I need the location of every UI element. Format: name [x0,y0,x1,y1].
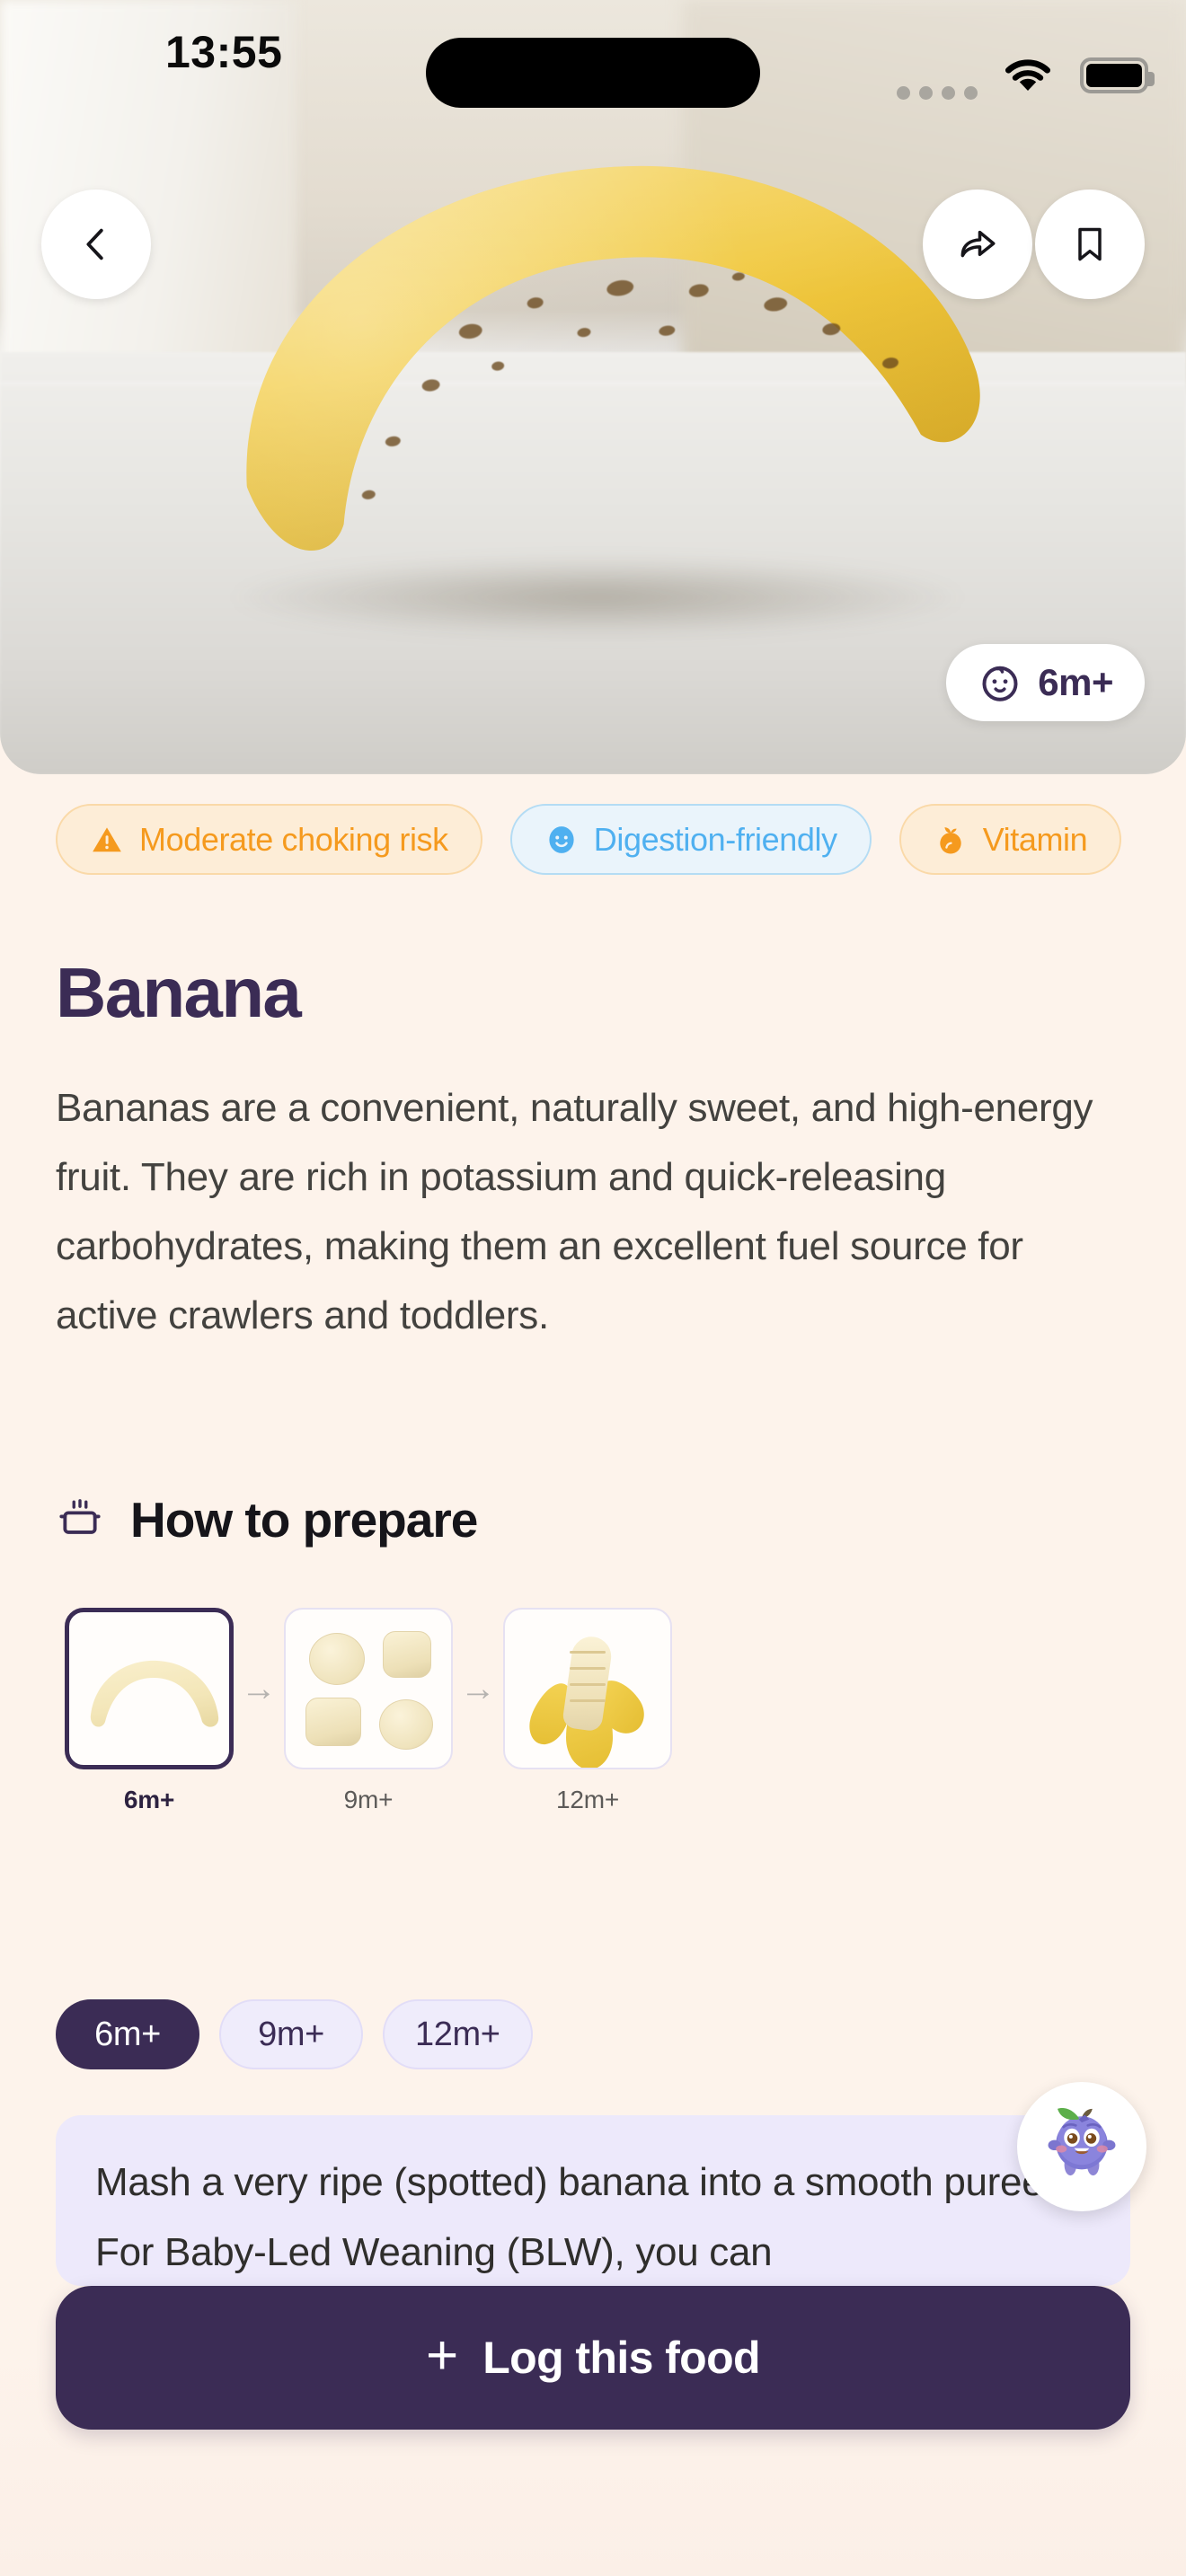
banana-slice-art [309,1633,365,1685]
prepare-steps: 6m+ → 9m+ → 12m+ [65,1608,672,1814]
hero-age-badge: 6m+ [946,644,1145,721]
log-food-label: Log this food [482,2332,760,2384]
prepare-step-2[interactable]: 9m+ [284,1608,453,1814]
prepare-step-3[interactable]: 12m+ [503,1608,672,1814]
chevron-left-icon [75,224,117,265]
food-description: Bananas are a convenient, naturally swee… [56,1073,1134,1350]
log-food-button[interactable]: + Log this food [56,2286,1130,2430]
blueberry-mascot-icon [1033,2098,1130,2195]
prepare-heading-label: How to prepare [130,1491,477,1548]
signal-dots-icon [897,86,978,100]
chip-label: Digestion-friendly [594,821,837,859]
age-tab-6m[interactable]: 6m+ [56,1999,199,2069]
chip-vitamin[interactable]: Vitamin [899,804,1122,875]
battery-icon [1080,57,1148,93]
prepare-step-1[interactable]: 6m+ [65,1608,234,1814]
cooking-pot-icon [56,1495,104,1544]
attribute-chip-row[interactable]: Moderate choking risk Digestion-friendly… [56,804,1186,875]
page-title: Banana [56,952,300,1034]
wifi-icon [1003,56,1053,95]
assistant-button[interactable] [1017,2082,1146,2211]
arrow-right-icon: → [234,1608,284,1769]
status-bar: 13:55 [0,0,1186,108]
share-icon [955,222,1000,267]
chip-label: Vitamin [983,821,1088,859]
banana-slice-art [379,1699,433,1750]
bookmark-button[interactable] [1035,190,1145,299]
status-time: 13:55 [165,26,282,78]
arrow-right-icon: → [453,1608,503,1769]
smiley-face-icon [544,823,579,857]
prepare-step-label: 12m+ [556,1786,619,1814]
warning-triangle-icon [90,823,124,857]
chip-digestion-friendly[interactable]: Digestion-friendly [510,804,872,875]
age-tab-12m[interactable]: 12m+ [383,1999,533,2069]
bookmark-icon [1070,225,1110,264]
prepare-step-label: 9m+ [344,1786,394,1814]
share-button[interactable] [923,190,1032,299]
orange-fruit-icon [934,823,968,857]
plus-icon: + [426,2328,458,2384]
prepare-step-card[interactable] [503,1608,672,1769]
half-peeled-banana-art [544,1631,638,1751]
banana-chunk-art [383,1631,431,1678]
prepare-step-card[interactable] [65,1608,234,1769]
chip-label: Moderate choking risk [139,821,448,859]
prepare-section-heading: How to prepare [56,1491,477,1548]
chip-choking-risk[interactable]: Moderate choking risk [56,804,482,875]
whole-peeled-banana-art [87,1659,220,1729]
prepare-step-label: 6m+ [124,1786,174,1814]
prepare-step-card[interactable] [284,1608,453,1769]
dynamic-island [426,38,760,108]
banana-chunk-art [305,1698,361,1746]
preparation-instruction: Mash a very ripe (spotted) banana into a… [56,2115,1130,2286]
back-button[interactable] [41,190,151,299]
age-tab-group[interactable]: 6m+ 9m+ 12m+ [56,1999,533,2069]
hero-age-badge-label: 6m+ [1038,661,1113,704]
baby-face-icon [978,660,1022,705]
age-tab-9m[interactable]: 9m+ [219,1999,363,2069]
